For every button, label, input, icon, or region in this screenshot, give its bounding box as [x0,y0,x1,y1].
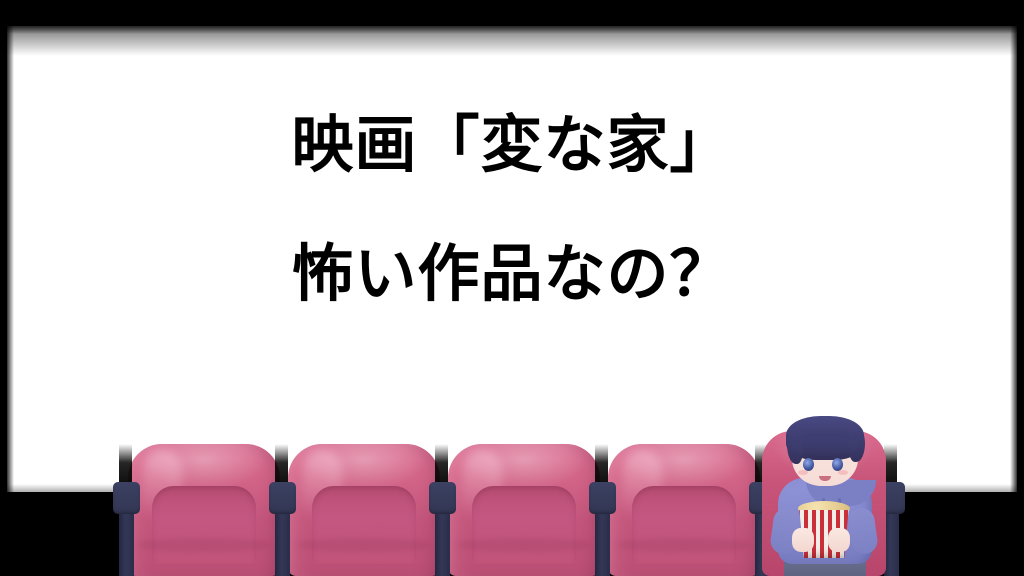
seat-crease [136,538,272,552]
seat-armrest [884,484,899,576]
armrest-cap [429,482,456,514]
seat-cushion-inset [472,486,576,564]
slide-canvas: 映画「変な家」 怖い作品なの？ [0,0,1024,576]
cinema-seat-4 [608,444,760,576]
seat-cushion-inset [632,486,736,564]
seat-crease [296,538,432,552]
boy-with-popcorn-illustration [762,416,886,576]
seat-cushion-inset [152,486,256,564]
character-hand-left [792,528,814,552]
armrest-cap [113,482,140,514]
cinema-seat-2 [288,444,440,576]
character-hair-fringe [792,436,858,456]
caption-line-2: 怖い作品なの？ [0,241,1024,308]
cinema-seat-3 [448,444,600,576]
cinema-seat-row [0,426,1024,576]
armrest-cap [269,482,296,514]
seat-armrest [275,484,290,576]
seat-armrest [595,484,610,576]
character-blush-left [798,470,808,475]
seat-crease [616,538,752,552]
caption-block: 映画「変な家」 怖い作品なの？ [0,112,1024,308]
character-eye-left [803,458,814,471]
seat-crease [456,538,592,552]
armrest-cap [589,482,616,514]
screen-top-shadow [7,26,1017,56]
seat-armrest [119,484,134,576]
character-hand-right [828,528,850,552]
caption-line-1: 映画「変な家」 [0,112,1024,179]
cinema-seat-1 [128,444,280,576]
seat-armrest [435,484,450,576]
seat-cushion-inset [312,486,416,564]
character-blush-right [838,470,848,475]
